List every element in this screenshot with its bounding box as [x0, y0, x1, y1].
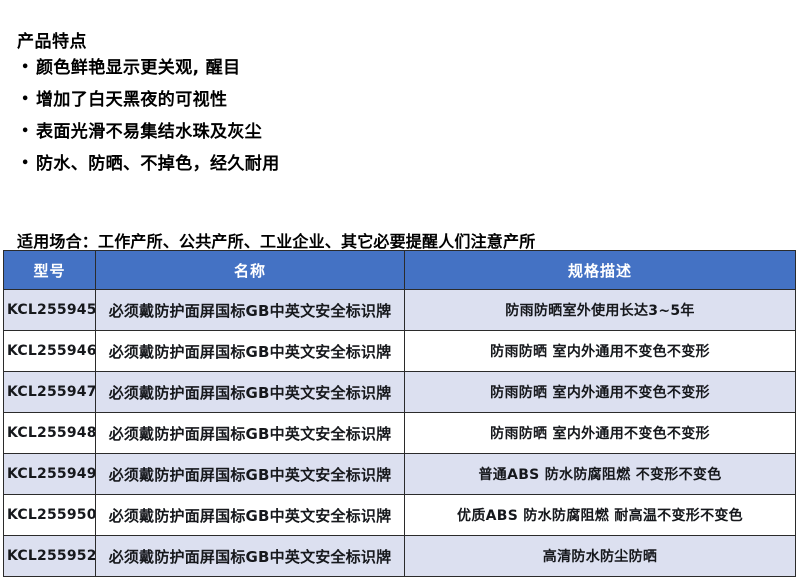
table-header-spec: 规格描述 [405, 251, 796, 290]
specification-table-container: 型号 名称 规格描述 KCL255945 必须戴防护面屏国标GB中英文安全标识牌… [3, 250, 795, 577]
cell-spec: 防雨防晒 室内外通用不变色不变形 [405, 372, 796, 413]
cell-name: 必须戴防护面屏国标GB中英文安全标识牌 [96, 290, 405, 331]
feature-list-item: • 增加了白天黑夜的可视性 [20, 84, 780, 116]
bullet-icon: • [21, 52, 30, 84]
bullet-icon: • [21, 116, 30, 148]
cell-model: KCL255945 [4, 290, 96, 331]
table-row: KCL255948 必须戴防护面屏国标GB中英文安全标识牌 防雨防晒 室内外通用… [4, 413, 796, 454]
table-row: KCL255949 必须戴防护面屏国标GB中英文安全标识牌 普通ABS 防水防腐… [4, 454, 796, 495]
cell-spec: 防雨防晒 室内外通用不变色不变形 [405, 413, 796, 454]
feature-list-item: • 表面光滑不易集结水珠及灰尘 [20, 116, 780, 148]
table-header-row: 型号 名称 规格描述 [4, 251, 796, 290]
table-body: KCL255945 必须戴防护面屏国标GB中英文安全标识牌 防雨防晒室外使用长达… [4, 290, 796, 577]
feature-list-item-label: 颜色鲜艳显示更关观, 醒目 [36, 58, 241, 78]
feature-list-item-label: 表面光滑不易集结水珠及灰尘 [36, 122, 262, 142]
feature-list-item-label: 防水、防晒、不掉色，经久耐用 [36, 154, 280, 174]
cell-name: 必须戴防护面屏国标GB中英文安全标识牌 [96, 454, 405, 495]
cell-model: KCL255950 [4, 495, 96, 536]
feature-list-item: • 颜色鲜艳显示更关观, 醒目 [20, 52, 780, 84]
feature-list-item: • 防水、防晒、不掉色，经久耐用 [20, 148, 780, 180]
bullet-icon: • [21, 84, 30, 116]
cell-name: 必须戴防护面屏国标GB中英文安全标识牌 [96, 495, 405, 536]
cell-spec: 防雨防晒室外使用长达3~5年 [405, 290, 796, 331]
cell-model: KCL255947 [4, 372, 96, 413]
table-header-name: 名称 [96, 251, 405, 290]
cell-model: KCL255949 [4, 454, 96, 495]
table-row: KCL255952 必须戴防护面屏国标GB中英文安全标识牌 高清防水防尘防晒 [4, 536, 796, 577]
bullet-icon: • [21, 148, 30, 180]
table-row: KCL255945 必须戴防护面屏国标GB中英文安全标识牌 防雨防晒室外使用长达… [4, 290, 796, 331]
cell-spec: 优质ABS 防水防腐阻燃 耐高温不变形不变色 [405, 495, 796, 536]
cell-spec: 普通ABS 防水防腐阻燃 不变形不变色 [405, 454, 796, 495]
table-row: KCL255946 必须戴防护面屏国标GB中英文安全标识牌 防雨防晒 室内外通用… [4, 331, 796, 372]
specification-table: 型号 名称 规格描述 KCL255945 必须戴防护面屏国标GB中英文安全标识牌… [3, 250, 796, 577]
cell-name: 必须戴防护面屏国标GB中英文安全标识牌 [96, 413, 405, 454]
cell-model: KCL255946 [4, 331, 96, 372]
cell-name: 必须戴防护面屏国标GB中英文安全标识牌 [96, 331, 405, 372]
cell-model: KCL255948 [4, 413, 96, 454]
cell-spec: 防雨防晒 室内外通用不变色不变形 [405, 331, 796, 372]
table-header: 型号 名称 规格描述 [4, 251, 796, 290]
table-header-model: 型号 [4, 251, 96, 290]
feature-list-item-label: 增加了白天黑夜的可视性 [36, 90, 227, 110]
product-features-list: • 颜色鲜艳显示更关观, 醒目 • 增加了白天黑夜的可视性 • 表面光滑不易集结… [20, 52, 780, 180]
cell-spec: 高清防水防尘防晒 [405, 536, 796, 577]
table-row: KCL255950 必须戴防护面屏国标GB中英文安全标识牌 优质ABS 防水防腐… [4, 495, 796, 536]
cell-name: 必须戴防护面屏国标GB中英文安全标识牌 [96, 372, 405, 413]
table-row: KCL255947 必须戴防护面屏国标GB中英文安全标识牌 防雨防晒 室内外通用… [4, 372, 796, 413]
cell-name: 必须戴防护面屏国标GB中英文安全标识牌 [96, 536, 405, 577]
product-features-title: 产品特点 [17, 31, 87, 53]
cell-model: KCL255952 [4, 536, 96, 577]
